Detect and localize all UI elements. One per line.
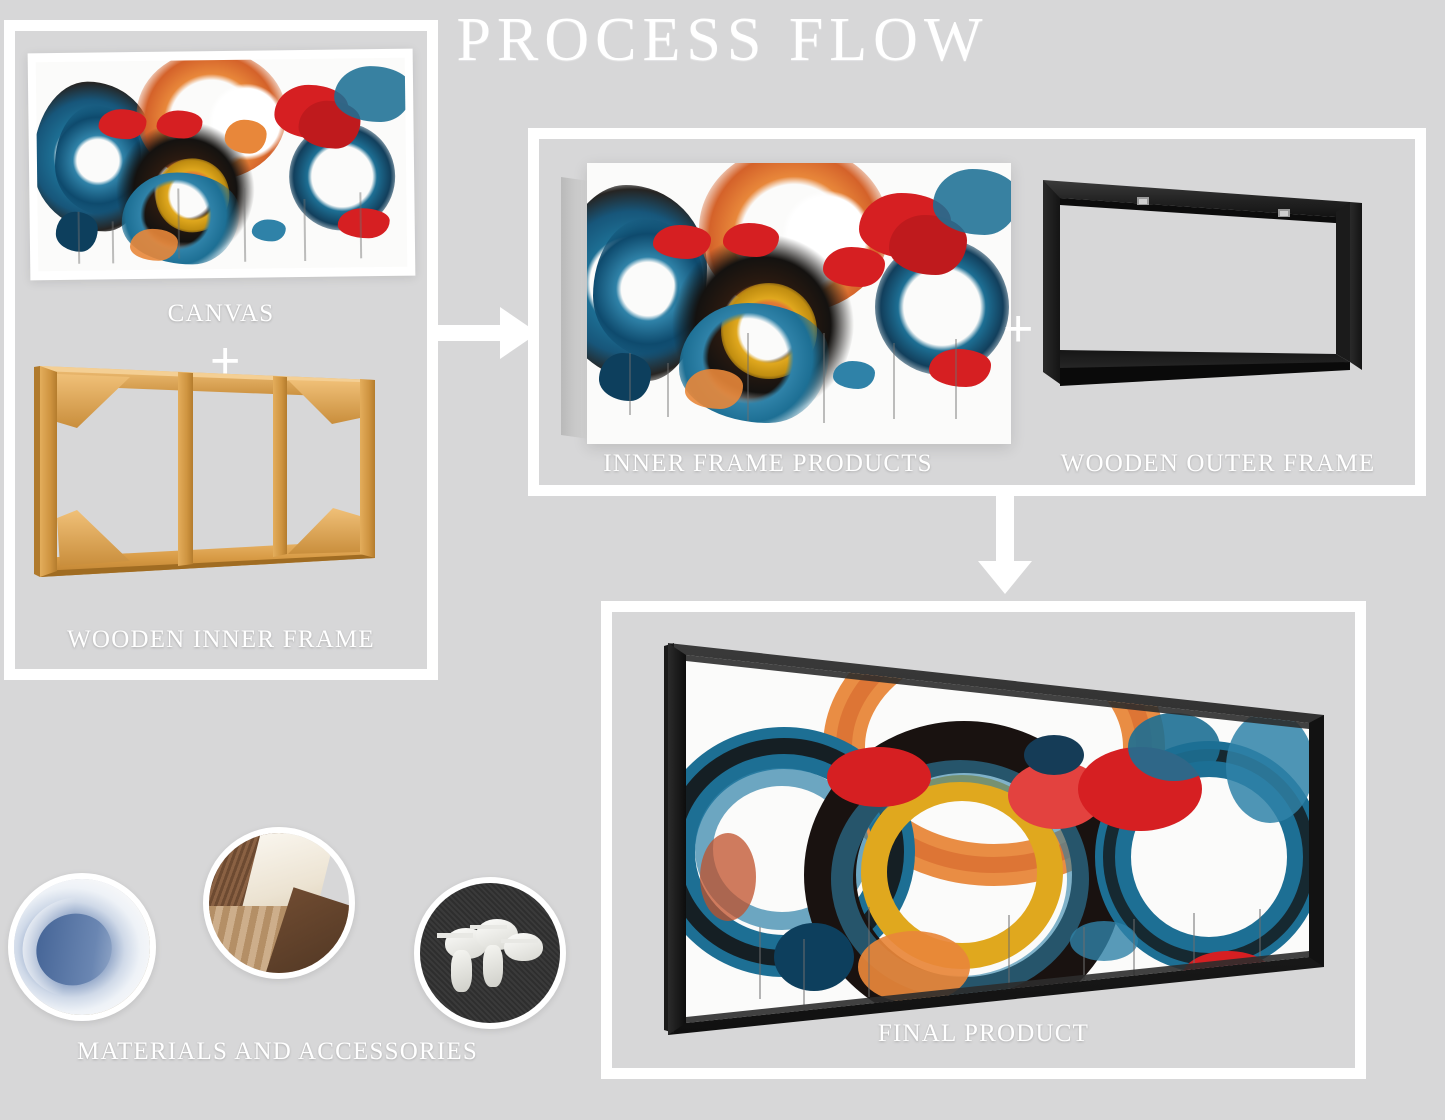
label-canvas: CANVAS	[4, 300, 438, 328]
process-flow-infographic: PROCESS FLOW	[0, 0, 1445, 1120]
wooden-inner-frame-image	[30, 358, 400, 613]
label-wooden-outer-frame: WOODEN OUTER FRAME	[1010, 450, 1426, 478]
arrow-down-icon	[977, 495, 1033, 595]
label-materials-and-accessories: MATERIALS AND ACCESSORIES	[0, 1038, 555, 1066]
arrow-right-icon	[430, 305, 540, 361]
plus-icon-inner-outer: +	[1003, 303, 1033, 355]
label-final-product: FINAL PRODUCT	[601, 1020, 1366, 1048]
material-wood-bar-swatch	[203, 827, 355, 979]
abstract-artwork-canvas	[36, 58, 408, 271]
label-wooden-inner-frame: WOODEN INNER FRAME	[4, 626, 438, 654]
wooden-outer-frame-image	[1040, 172, 1395, 422]
final-product-image	[664, 627, 1331, 1034]
canvas-print-image	[28, 49, 416, 281]
material-canvas-roll-swatch	[8, 873, 156, 1021]
label-inner-frame-products: INNER FRAME PRODUCTS	[528, 450, 1008, 478]
material-wall-hooks-swatch	[414, 877, 566, 1029]
inner-frame-product-image	[561, 163, 1011, 444]
